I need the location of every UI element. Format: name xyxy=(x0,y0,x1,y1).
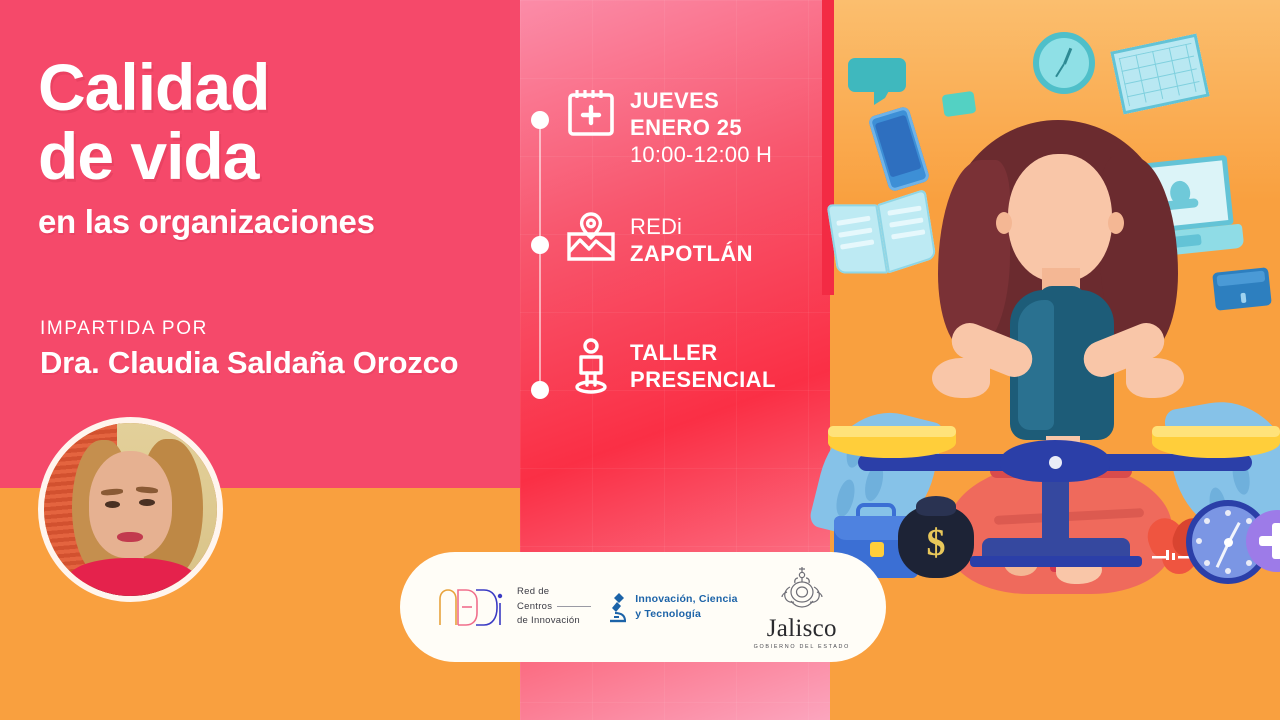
date-day: JUEVES xyxy=(630,88,772,115)
ict-text-line-1: Innovación, Ciencia xyxy=(635,592,737,607)
avatar-eye-right xyxy=(139,499,155,506)
open-book-icon xyxy=(827,193,937,278)
ict-text-line-2: y Tecnología xyxy=(635,607,737,622)
calendar-plus-icon xyxy=(566,86,622,138)
map-pin-icon xyxy=(566,212,622,264)
format-line-1: TALLER xyxy=(630,340,776,367)
wall-clock-icon xyxy=(1033,32,1095,94)
illustration: $ xyxy=(830,0,1280,720)
ict-logo-text: Innovación, Ciencia y Tecnología xyxy=(635,592,737,622)
jalisco-name: Jalisco xyxy=(754,616,850,641)
speaker-name: Dra. Claudia Saldaña Orozco xyxy=(40,345,458,381)
detail-row-date: JUEVES ENERO 25 10:00-12:00 H xyxy=(566,86,772,168)
detail-row-format: TALLER PRESENCIAL xyxy=(566,338,776,394)
scale-pan-work xyxy=(828,426,956,458)
timeline-dot-1 xyxy=(531,111,549,129)
jalisco-subtitle: GOBIERNO DEL ESTADO xyxy=(754,644,850,650)
title-line-1: Calidad xyxy=(38,56,508,119)
chat-bubble-icon xyxy=(848,58,906,92)
date-month-day: ENERO 25 xyxy=(630,115,772,142)
page-subtitle: en las organizaciones xyxy=(38,203,508,241)
title-block: Calidad de vida en las organizaciones xyxy=(38,56,508,241)
sponsor-logo-bar: Red de Centros de Innovación Innovación,… xyxy=(400,552,886,662)
jalisco-logo-group: Jalisco GOBIERNO DEL ESTADO xyxy=(754,565,850,650)
smartphone-icon xyxy=(868,106,931,193)
timeline-line xyxy=(539,120,541,390)
format-line-2: PRESENCIAL xyxy=(630,367,776,394)
balance-scale xyxy=(830,412,1280,592)
microscope-icon xyxy=(607,590,629,624)
event-poster: Calidad de vida en las organizaciones IM… xyxy=(0,0,1280,720)
detail-text-location: REDi ZAPOTLÁN xyxy=(630,212,753,268)
sticky-note-icon xyxy=(942,91,977,117)
imparted-by-label: IMPARTIDA POR xyxy=(40,318,208,340)
speaker-avatar xyxy=(38,417,223,602)
detail-row-location: REDi ZAPOTLÁN xyxy=(566,212,753,268)
person-standing-icon xyxy=(566,338,622,394)
redi-text-line-1: Red de xyxy=(517,585,591,600)
calendar-sheet-icon xyxy=(1110,34,1209,115)
redi-text-line-2: Centros xyxy=(517,600,591,615)
avatar-eye-left xyxy=(105,501,121,508)
title-line-2: de vida xyxy=(38,125,508,188)
ict-logo-group: Innovación, Ciencia y Tecnología xyxy=(607,590,737,624)
date-time: 10:00-12:00 H xyxy=(630,142,772,169)
avatar-scarf xyxy=(68,558,196,602)
redi-text-line-3: de Innovación xyxy=(517,614,591,629)
detail-text-date: JUEVES ENERO 25 10:00-12:00 H xyxy=(630,86,772,168)
envelope-icon xyxy=(1212,267,1272,311)
jalisco-crest-icon xyxy=(775,565,829,615)
redi-logo-icon xyxy=(436,585,508,629)
timeline-dot-2 xyxy=(531,236,549,254)
timeline-dot-3 xyxy=(531,381,549,399)
location-city: ZAPOTLÁN xyxy=(630,241,753,268)
avatar-lips xyxy=(117,532,143,542)
location-venue: REDi xyxy=(630,214,753,241)
redi-logo-text: Red de Centros de Innovación xyxy=(517,585,591,629)
scale-pan-life xyxy=(1152,426,1280,458)
detail-text-format: TALLER PRESENCIAL xyxy=(630,338,776,394)
redi-logo-group: Red de Centros de Innovación xyxy=(436,585,591,629)
